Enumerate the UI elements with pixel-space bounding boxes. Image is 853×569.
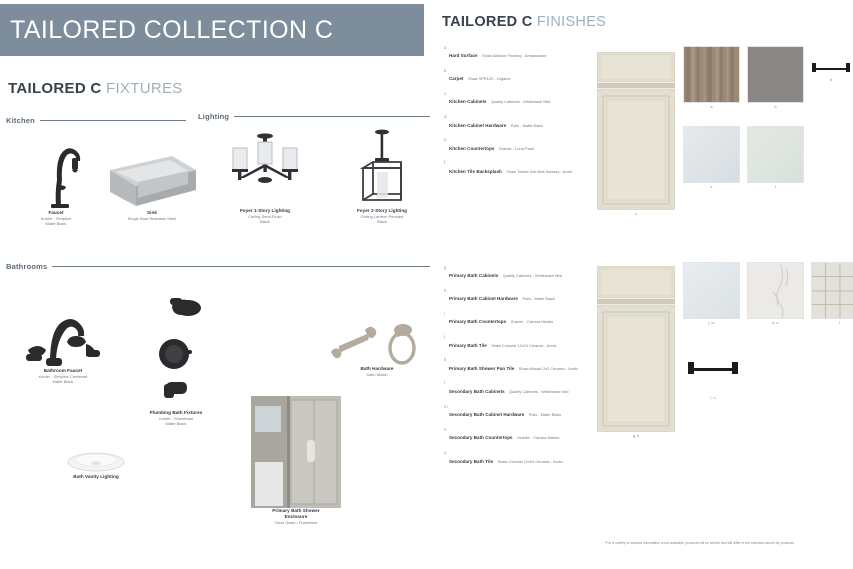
semi-flush-chandelier-icon xyxy=(228,132,302,208)
finishes-heading-light: FINISHES xyxy=(537,14,606,30)
product-foyer-2story-lighting: Foyer 2-Story Lighting Ceiling Lantern P… xyxy=(330,126,434,225)
finish-item: l Secondary Bath Cabinets Quality Cabine… xyxy=(444,380,596,398)
finish-name: Primary Bath Cabinets xyxy=(449,273,498,278)
product-shower-enclosure: Primary Bath Shower Enclosure Clear Glas… xyxy=(238,392,354,526)
finish-item: c Kitchen Cabinets Quality Cabinets - Wh… xyxy=(444,90,596,108)
finish-name: Secondary Bath Tile xyxy=(449,459,493,464)
swatch-tag: e xyxy=(683,185,740,189)
page-title-bar: TAILORED COLLECTION C xyxy=(0,4,424,56)
swatch-tag: d xyxy=(811,78,851,82)
finishes-heading: TAILORED C FINISHES xyxy=(442,14,606,30)
product-kitchen-faucet: Faucet Kohler - Simplice Matte Black xyxy=(8,130,104,227)
carpet-swatch xyxy=(747,46,804,103)
finish-name: Secondary Bath Cabinet Hardware xyxy=(449,412,524,417)
swatch-backsplash: f xyxy=(747,126,804,183)
finish-name: Primary Bath Cabinet Hardware xyxy=(449,296,518,301)
kitchen-faucet-image xyxy=(8,130,104,210)
finish-desc: Shaw Tolaria 3x6 Wall Subway - Arctic xyxy=(506,170,572,174)
towel-bar-and-ring-icon xyxy=(325,320,429,366)
cabinet-door-sample xyxy=(597,52,675,210)
finish-name: Primary Bath Countertops xyxy=(449,319,506,324)
finish-name: Hard Surface xyxy=(449,53,478,58)
swatch-tag: a xyxy=(683,105,740,109)
finish-item: b Carpet Shaw SPR120 - Organic xyxy=(444,67,596,85)
product-desc-1: Single Bowl Stainless Steel xyxy=(100,216,204,221)
finish-desc: Granite - Carrara Marble xyxy=(511,320,554,324)
finish-desc: Pulls - Matte Black xyxy=(511,124,543,128)
flush-mount-dome-icon xyxy=(65,448,127,474)
product-bathroom-faucet: Bathroom Faucet Kohler - Simplice Center… xyxy=(8,288,118,385)
finish-name: Primary Bath Shower Pan Tile xyxy=(449,366,514,371)
finish-desc: Shaw SPR120 - Organic xyxy=(468,77,510,81)
section-divider-kitchen xyxy=(40,120,186,121)
section-label-bathrooms: Bathrooms xyxy=(6,262,52,271)
section-label-kitchen: Kitchen xyxy=(6,116,40,125)
faucet-icon xyxy=(27,130,85,210)
finishes-list-kitchen: a Hard Surface Shaw Alliance Flooring - … xyxy=(444,44,596,183)
lantern-pendant-icon xyxy=(351,128,413,208)
swatch-grid-bath: g, h j, m k, n xyxy=(597,262,849,442)
finish-item: n Secondary Bath Countertops Granite - C… xyxy=(444,426,596,444)
finish-item: o Secondary Bath Tile Shaw Colonial 12x2… xyxy=(444,450,596,468)
finish-item: d Kitchen Cabinet Hardware Pulls - Matte… xyxy=(444,114,596,132)
section-divider-bathrooms xyxy=(52,266,430,267)
section-header-lighting: Lighting xyxy=(198,112,430,121)
plumbing-bath-fixtures-image xyxy=(120,292,232,410)
page-title: TAILORED COLLECTION C xyxy=(0,16,333,45)
swatch-tag: c xyxy=(597,212,675,216)
swatch-tag: i, o xyxy=(687,396,739,400)
foyer-1story-lighting-image xyxy=(212,126,318,208)
swatch-tag: g, h xyxy=(597,434,675,438)
finish-item: j Primary Bath Tile Shaw Colonial 12x24 … xyxy=(444,334,596,352)
finish-desc: Pulls - Matte Black xyxy=(522,297,554,301)
finish-desc: Quality Cabinets - Whitewash Mist xyxy=(503,274,562,278)
finish-item: h Primary Bath Cabinet Hardware Pulls - … xyxy=(444,287,596,305)
swatch-bath-tile: k, n xyxy=(747,262,804,319)
finishes-heading-bold: TAILORED C xyxy=(442,14,533,30)
kitchen-sink-image xyxy=(100,130,204,210)
bar-pull-icon xyxy=(811,60,851,76)
section-header-kitchen: Kitchen xyxy=(6,116,186,125)
swatch-cabinet-hardware-bath: i, o xyxy=(687,358,739,378)
finishes-list-bath: g Primary Bath Cabinets Quality Cabinets… xyxy=(444,264,596,473)
finish-name: Secondary Bath Countertops xyxy=(449,435,513,440)
finish-item: g Primary Bath Cabinets Quality Cabinets… xyxy=(444,264,596,282)
product-desc-2: Black xyxy=(330,219,434,224)
finish-desc: Pulls - Matte Black xyxy=(529,413,561,417)
swatch-tag: f xyxy=(747,185,804,189)
finish-name: Kitchen Cabinet Hardware xyxy=(449,123,506,128)
section-label-lighting: Lighting xyxy=(198,112,234,121)
finish-desc: Quality Cabinets - Whitewash Mist xyxy=(491,100,550,104)
bathroom-faucet-image xyxy=(8,288,118,368)
finish-desc: Shaw Colonial 12x24 Ceramic - Arctic xyxy=(498,460,563,464)
backsplash-swatch xyxy=(747,126,804,183)
finish-item: e Kitchen Countertops Granite - Luna Pea… xyxy=(444,137,596,155)
fixtures-subheading-bold: TAILORED C xyxy=(8,80,102,97)
product-plumbing-bath-fixtures: Plumbing Bath Fixtures Kohler - Showhead… xyxy=(120,292,232,427)
disclaimer-text: *For a variety of reasons information is… xyxy=(605,541,848,546)
swatch-tag: k, n xyxy=(747,321,804,325)
swatch-tag: b xyxy=(747,105,804,109)
bar-pull-icon xyxy=(687,358,739,378)
product-kitchen-sink: Sink Single Bowl Stainless Steel xyxy=(100,130,204,221)
product-bath-hardware: Bath Hardware Satin Nickel xyxy=(322,318,432,377)
shower-enclosure-image xyxy=(238,392,354,508)
product-desc-2: Clear Glass / Frameless xyxy=(238,520,354,525)
marble-swatch xyxy=(747,262,804,319)
bath-hardware-image xyxy=(322,318,432,366)
farmhouse-sink-icon xyxy=(106,154,198,210)
product-desc-2: Matte Black xyxy=(8,379,118,384)
product-name: Bath Vanity Lighting xyxy=(42,474,150,480)
swatch-bath-countertop: j, m xyxy=(683,262,740,319)
swatch-cabinet-door-kitchen: c xyxy=(597,52,675,210)
finish-desc: Quality Cabinets - Whitewash Mist xyxy=(509,390,568,394)
section-header-bathrooms: Bathrooms xyxy=(6,262,430,271)
product-desc-1: Satin Nickel xyxy=(322,372,432,377)
finish-desc: Shaw Mosaic 2x2 Ceramic - Arctic xyxy=(519,367,578,371)
finish-item: a Hard Surface Shaw Alliance Flooring - … xyxy=(444,44,596,62)
finish-name: Primary Bath Tile xyxy=(449,343,487,348)
section-divider-lighting xyxy=(234,116,430,117)
finish-desc: Granite - Luna Pearl xyxy=(499,147,534,151)
finish-desc: Shaw Colonial 12x24 Ceramic - Arctic xyxy=(491,344,556,348)
swatch-cabinet-door-bath: g, h xyxy=(597,266,675,432)
product-foyer-1story-lighting: Foyer 1-Story Lighting Ceiling Semi-Flus… xyxy=(212,126,318,225)
bath-countertop-swatch xyxy=(683,262,740,319)
swatch-carpet: b xyxy=(747,46,804,103)
finish-name: Kitchen Cabinets xyxy=(449,99,487,104)
finish-name: Carpet xyxy=(449,76,464,81)
bath-faucet-icon xyxy=(20,296,106,368)
product-bath-vanity-lighting: Bath Vanity Lighting xyxy=(42,440,150,480)
finish-desc: Granite - Carrara Marble xyxy=(517,436,560,440)
product-desc-2: Black xyxy=(212,219,318,224)
swatch-hard-surface: a xyxy=(683,46,740,103)
product-desc-2: Matte Black xyxy=(120,421,232,426)
cabinet-door-sample xyxy=(597,266,675,432)
finish-item: k Primary Bath Shower Pan Tile Shaw Mosa… xyxy=(444,357,596,375)
swatch-cabinet-hardware-kitchen: d xyxy=(811,60,851,76)
finish-name: Kitchen Tile Backsplash xyxy=(449,169,502,174)
wood-plank-swatch xyxy=(683,46,740,103)
finish-name: Secondary Bath Cabinets xyxy=(449,389,505,394)
finishes-column: TAILORED C FINISHES a Hard Surface Shaw … xyxy=(432,0,853,569)
shower-trim-icon xyxy=(128,292,224,410)
fixtures-subheading-light: FIXTURES xyxy=(106,80,183,97)
finish-name: Kitchen Countertops xyxy=(449,146,494,151)
swatch-countertop: e xyxy=(683,126,740,183)
countertop-swatch xyxy=(683,126,740,183)
finish-item: i Primary Bath Countertops Granite - Car… xyxy=(444,310,596,328)
mosaic-tile-swatch xyxy=(811,262,853,319)
fixtures-column: TAILORED COLLECTION C TAILORED C FIXTURE… xyxy=(0,0,432,569)
fixtures-subheading: TAILORED C FIXTURES xyxy=(8,80,183,97)
finish-desc: Shaw Alliance Flooring - Ambassador xyxy=(482,54,547,58)
swatch-tag: l xyxy=(811,321,853,325)
shower-photo xyxy=(251,396,341,508)
foyer-2story-lighting-image xyxy=(330,126,434,208)
swatch-shower-pan-tile: l xyxy=(811,262,853,319)
finish-item: m Secondary Bath Cabinet Hardware Pulls … xyxy=(444,403,596,421)
swatch-grid-kitchen: c a b xyxy=(597,46,849,222)
design-board-page: TAILORED COLLECTION C TAILORED C FIXTURE… xyxy=(0,0,853,569)
finish-item: f Kitchen Tile Backsplash Shaw Tolaria 3… xyxy=(444,160,596,178)
swatch-tag: j, m xyxy=(683,321,740,325)
product-desc-2: Matte Black xyxy=(8,221,104,226)
bath-vanity-lighting-image xyxy=(42,440,150,474)
